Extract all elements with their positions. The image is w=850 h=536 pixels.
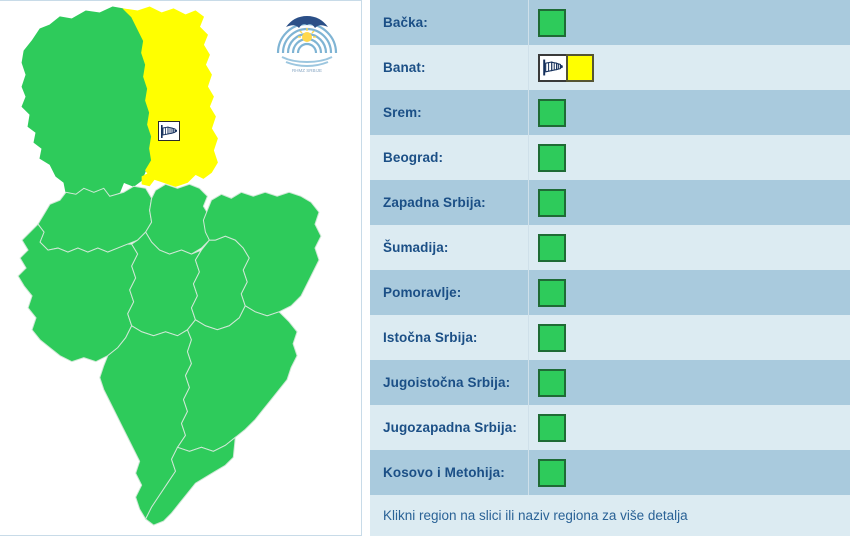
warning-level-square-yellow[interactable] [566, 54, 594, 82]
warning-cells [528, 0, 850, 45]
region-name-pomoravlje[interactable]: Pomoravlje: [370, 285, 528, 300]
windsock-icon [542, 58, 564, 77]
footer-hint-text: Klikni region na slici ili naziv regiona… [383, 508, 688, 523]
map-panel[interactable]: RHMZ SRBIJE [0, 0, 362, 536]
warning-level-square-green[interactable] [538, 234, 566, 262]
table-row[interactable]: Bačka: [370, 0, 850, 45]
warning-cells [528, 180, 850, 225]
footer-hint-row: Klikni region na slici ili naziv regiona… [370, 495, 850, 536]
warning-level-square-green[interactable] [538, 279, 566, 307]
region-name-banat[interactable]: Banat: [370, 60, 528, 75]
region-name-backa[interactable]: Bačka: [370, 15, 528, 30]
region-name-jugozapadna-srbija[interactable]: Jugozapadna Srbija: [370, 420, 528, 435]
region-warnings-table: Bačka: Banat: [370, 0, 850, 536]
warning-cells [528, 90, 850, 135]
table-row[interactable]: Beograd: [370, 135, 850, 180]
warning-level-square-green[interactable] [538, 9, 566, 37]
windsock-icon [160, 124, 178, 139]
map-region-jugoistocna-srbija[interactable] [178, 306, 298, 451]
warning-level-square-green[interactable] [538, 414, 566, 442]
warning-level-square-green[interactable] [538, 99, 566, 127]
table-row[interactable]: Srem: [370, 90, 850, 135]
warning-level-square-green[interactable] [538, 189, 566, 217]
table-row[interactable]: Zapadna Srbija: [370, 180, 850, 225]
region-name-jugoistocna-srbija[interactable]: Jugoistočna Srbija: [370, 375, 528, 390]
warning-cells [528, 450, 850, 495]
table-row[interactable]: Jugozapadna Srbija: [370, 405, 850, 450]
map-marker-windsock-banat[interactable] [158, 121, 180, 141]
region-name-sumadija[interactable]: Šumadija: [370, 240, 528, 255]
weather-warning-page: RHMZ SRBIJE Bačka: [0, 0, 850, 536]
warning-cells [528, 45, 850, 90]
map-region-beograd[interactable] [146, 184, 210, 254]
table-row[interactable]: Šumadija: [370, 225, 850, 270]
map-region-backa[interactable] [22, 7, 152, 196]
region-name-zapadna-srbija[interactable]: Zapadna Srbija: [370, 195, 528, 210]
table-row[interactable]: Pomoravlje: [370, 270, 850, 315]
table-row[interactable]: Kosovo i Metohija: [370, 450, 850, 495]
region-name-srem[interactable]: Srem: [370, 105, 528, 120]
warning-wind-yellow[interactable] [538, 54, 594, 82]
warning-level-square-green[interactable] [538, 369, 566, 397]
warning-cells [528, 225, 850, 270]
warning-cells [528, 405, 850, 450]
table-row[interactable]: Jugoistočna Srbija: [370, 360, 850, 405]
warning-level-square-green[interactable] [538, 459, 566, 487]
warning-cells [528, 270, 850, 315]
warning-level-square-green[interactable] [538, 144, 566, 172]
serbia-regions-map[interactable] [0, 1, 361, 535]
region-name-kosovo-i-metohija[interactable]: Kosovo i Metohija: [370, 465, 528, 480]
warning-cells [528, 360, 850, 405]
warning-cells [528, 315, 850, 360]
table-row[interactable]: Istočna Srbija: [370, 315, 850, 360]
windsock-icon-box [538, 54, 566, 82]
warning-cells [528, 135, 850, 180]
region-name-istocna-srbija[interactable]: Istočna Srbija: [370, 330, 528, 345]
region-name-beograd[interactable]: Beograd: [370, 150, 528, 165]
table-row[interactable]: Banat: [370, 45, 850, 90]
region-warnings-panel: Bačka: Banat: [362, 0, 850, 536]
warning-level-square-green[interactable] [538, 324, 566, 352]
